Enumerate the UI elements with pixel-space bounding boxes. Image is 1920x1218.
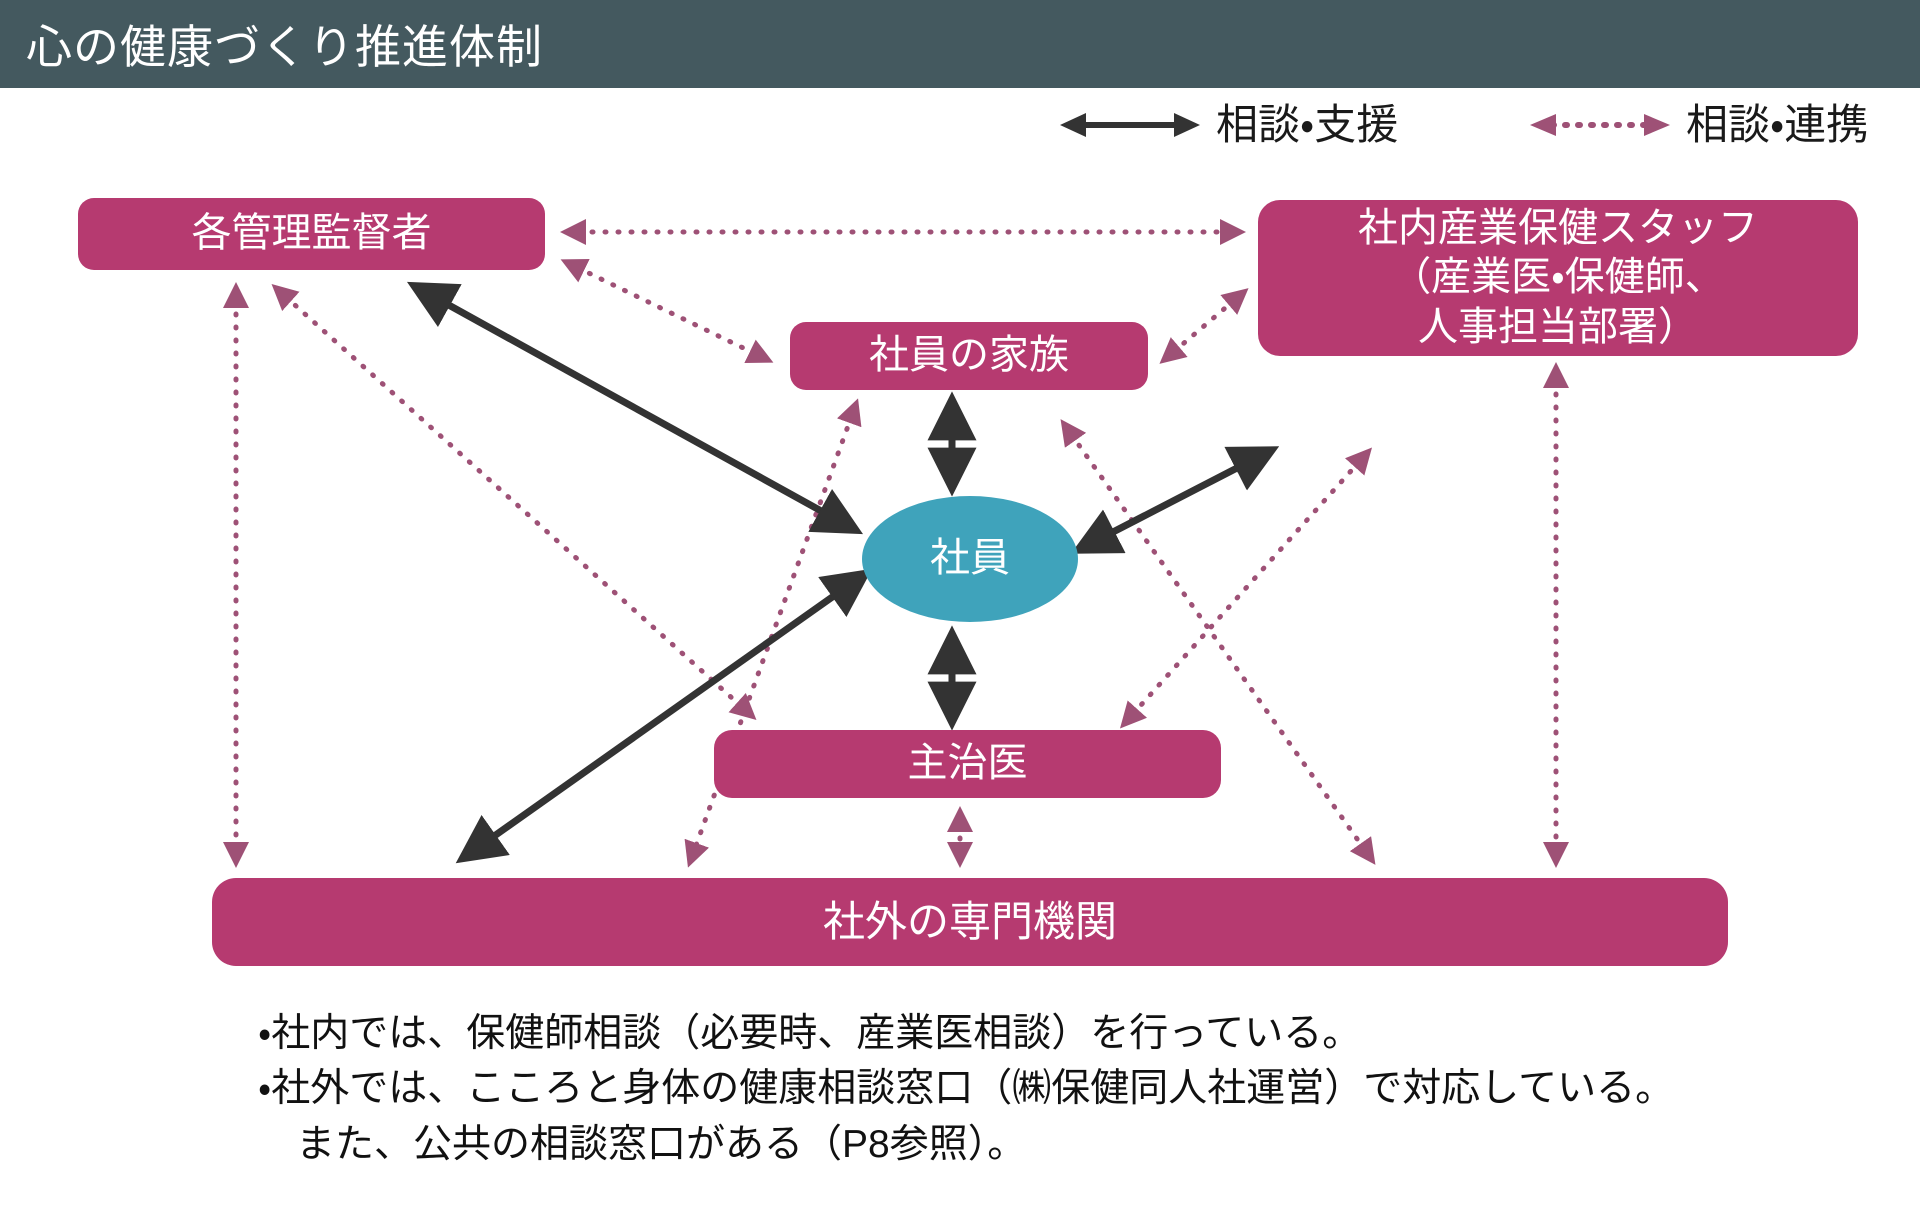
node-employee[interactable]: 社員	[862, 496, 1078, 622]
node-employee-label: 社員	[930, 534, 1010, 584]
footnote-line-1: ・社内では、保健師相談（必要時、産業医相談）を行っている。	[258, 1006, 1858, 1061]
node-occupational-health-staff[interactable]: 社内産業保健スタッフ （産業医・保健師、 人事担当部署）	[1258, 200, 1858, 356]
arrow-staff-employee	[1082, 452, 1268, 548]
node-family-label: 社員の家族	[869, 331, 1069, 381]
node-attending-physician[interactable]: 主治医	[714, 730, 1221, 798]
node-doctor-label: 主治医	[908, 739, 1028, 789]
node-staff-line1: 社内産業保健スタッフ	[1358, 204, 1758, 254]
arrow-managers-doctor	[276, 288, 752, 716]
arrow-external-employee	[466, 576, 862, 856]
node-staff-line3: 人事担当部署）	[1358, 303, 1758, 353]
arrow-family-staff	[1164, 292, 1244, 360]
footnote-line-2: ・社外では、こころと身体の健康相談窓口（㈱保健同人社運営）で対応している。	[258, 1061, 1858, 1116]
node-external-specialist-institution[interactable]: 社外の専門機関	[212, 878, 1728, 966]
footnotes: ・社内では、保健師相談（必要時、産業医相談）を行っている。 ・社外では、こころと…	[258, 1006, 1858, 1172]
node-external-label: 社外の専門機関	[823, 896, 1117, 948]
node-employee-family[interactable]: 社員の家族	[790, 322, 1148, 390]
slide-root: 心の健康づくり推進体制 相談・支援 相談・連携	[0, 0, 1920, 1218]
node-staff-line2: （産業医・保健師、	[1358, 253, 1758, 303]
node-staff-text: 社内産業保健スタッフ （産業医・保健師、 人事担当部署）	[1358, 204, 1758, 353]
node-managers[interactable]: 各管理監督者	[78, 198, 545, 270]
arrow-staff-down-left	[1124, 452, 1368, 724]
node-managers-label: 各管理監督者	[192, 209, 432, 259]
footnote-line-3: また、公共の相談窓口がある（P8参照）。	[258, 1117, 1858, 1172]
arrow-managers-employee	[418, 288, 852, 528]
arrow-managers-family	[566, 262, 768, 360]
